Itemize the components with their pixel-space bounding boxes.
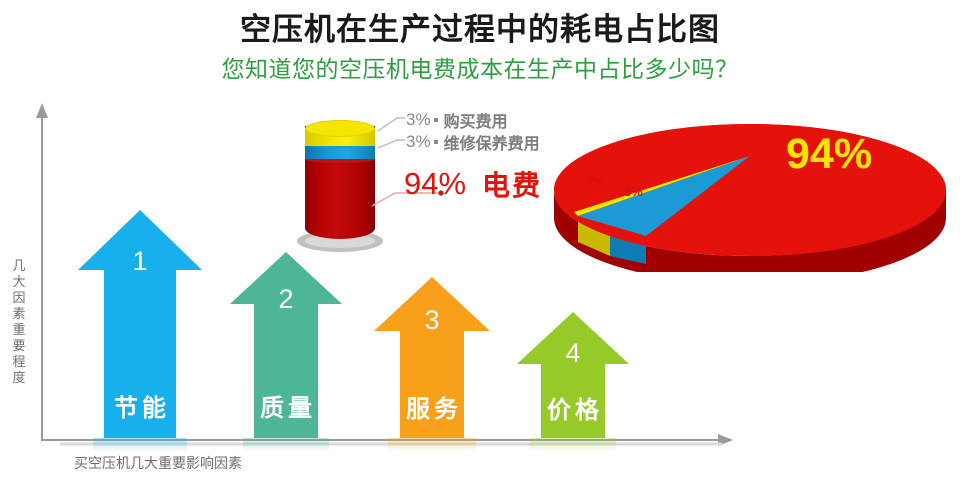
factor-arrow-3[interactable]: 3 服务 <box>374 277 490 438</box>
pie-label-electricity: 94% <box>786 130 872 179</box>
factor-arrow-2-rank: 2 <box>230 284 342 315</box>
callout-purchase-label: 购买费用 <box>444 114 508 131</box>
callout-electricity-label: 电费 <box>482 170 542 201</box>
pie-chart[interactable]: 94% 3% 3% <box>548 112 952 272</box>
callout-electricity-value: 94% <box>404 166 466 201</box>
factor-arrow-3-label: 服务 <box>374 389 490 424</box>
page-title: 空压机在生产过程中的耗电占比图 <box>0 4 960 49</box>
callout-maintenance-value: 3% <box>406 132 431 151</box>
factor-arrow-2-reflection <box>243 438 328 452</box>
factor-arrow-2[interactable]: 2 质量 <box>230 252 342 438</box>
cylinder-chart[interactable] <box>305 118 375 248</box>
page-subtitle: 您知道您的空压机电费成本在生产中占比多少吗？ <box>0 50 960 84</box>
factor-arrow-1-rank: 1 <box>78 246 202 277</box>
factor-arrow-1-label: 节能 <box>78 388 202 423</box>
factor-arrow-1-reflection <box>93 438 187 452</box>
callout-maintenance: 3%维修保养费用 <box>406 130 540 154</box>
factor-arrow-4-reflection <box>530 438 615 452</box>
factor-arrow-2-label: 质量 <box>230 388 342 423</box>
factor-arrow-4-label: 价格 <box>517 390 629 425</box>
y-axis-label: 几大因素重要程度 <box>8 258 30 386</box>
callout-purchase: 3%购买费用 <box>406 108 508 132</box>
callout-electricity: 94%电费 <box>404 164 542 204</box>
callout-maintenance-label: 维修保养费用 <box>444 136 540 153</box>
factor-arrow-4-rank: 4 <box>517 338 629 369</box>
factor-arrow-3-rank: 3 <box>374 305 490 336</box>
factor-arrow-4[interactable]: 4 价格 <box>517 312 629 438</box>
callout-bullet-icon <box>434 118 438 122</box>
pie-label-maintenance: 3% <box>624 184 643 199</box>
callout-bullet-icon <box>434 140 438 144</box>
pie-label-purchase: 3% <box>586 175 602 187</box>
factor-arrow-3-reflection <box>388 438 476 452</box>
callout-purchase-value: 3% <box>406 110 431 129</box>
infographic-canvas: 空压机在生产过程中的耗电占比图 您知道您的空压机电费成本在生产中占比多少吗？ 几… <box>0 0 960 483</box>
factor-arrow-1[interactable]: 1 节能 <box>78 210 202 438</box>
x-axis-label: 买空压机几大重要影响因素 <box>74 453 242 473</box>
cylinder-top-cap <box>305 120 375 137</box>
